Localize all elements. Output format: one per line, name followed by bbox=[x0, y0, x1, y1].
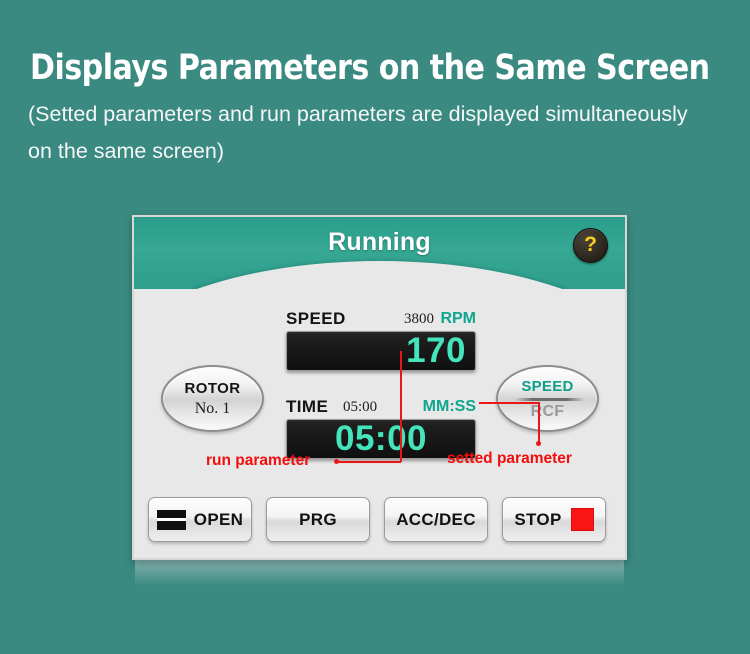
run-parameter-leader-dot bbox=[334, 459, 339, 464]
time-label: TIME bbox=[286, 397, 328, 417]
speed-rcf-bottom-label: RCF bbox=[498, 403, 597, 421]
setted-parameter-leader-horizontal bbox=[479, 402, 540, 404]
command-button-row: OPEN PRG ACC/DEC STOP bbox=[134, 497, 625, 547]
run-parameter-annotation: run parameter bbox=[206, 452, 310, 470]
open-button[interactable]: OPEN bbox=[148, 497, 252, 542]
speed-run-value: 170 bbox=[406, 331, 466, 371]
rotor-button-number: No. 1 bbox=[163, 400, 262, 418]
speed-unit-label: RPM bbox=[440, 310, 476, 328]
prg-button-label: PRG bbox=[299, 510, 337, 530]
speed-rcf-divider bbox=[516, 398, 583, 401]
rotor-button-label: ROTOR bbox=[163, 380, 262, 397]
page-title: Displays Parameters on the Same Screen bbox=[30, 48, 632, 88]
time-set-value: 05:00 bbox=[343, 399, 377, 416]
setted-parameter-leader-dot bbox=[536, 441, 541, 446]
speed-rcf-toggle-button[interactable]: SPEED RCF bbox=[496, 365, 599, 432]
setted-parameter-annotation: setted parameter bbox=[447, 450, 572, 468]
run-parameter-leader-vertical bbox=[400, 351, 402, 462]
acc-dec-button[interactable]: ACC/DEC bbox=[384, 497, 488, 542]
open-button-label: OPEN bbox=[194, 510, 243, 530]
help-icon[interactable]: ? bbox=[573, 228, 608, 263]
acc-dec-button-label: ACC/DEC bbox=[396, 510, 476, 530]
speed-rcf-top-label: SPEED bbox=[498, 378, 597, 395]
stop-button[interactable]: STOP bbox=[502, 497, 606, 542]
speed-set-value: 3800 bbox=[404, 311, 434, 328]
rotor-button[interactable]: ROTOR No. 1 bbox=[161, 365, 264, 432]
stop-button-label: STOP bbox=[514, 510, 561, 530]
setted-parameter-leader-vertical bbox=[538, 402, 540, 444]
speed-label: SPEED bbox=[286, 309, 346, 329]
page-subtitle: (Setted parameters and run parameters ar… bbox=[28, 96, 688, 170]
status-title: Running bbox=[134, 228, 625, 257]
prg-button[interactable]: PRG bbox=[266, 497, 370, 542]
run-parameter-leader-horizontal bbox=[337, 461, 401, 463]
lid-open-icon bbox=[157, 510, 186, 530]
centrifuge-control-panel: Running ? ROTOR No. 1 SPEED RCF SPEED 38… bbox=[132, 215, 627, 560]
time-format-label: MM:SS bbox=[423, 398, 476, 416]
panel-header: Running ? bbox=[134, 217, 625, 289]
header-curve-divider bbox=[134, 261, 625, 289]
panel-body: ROTOR No. 1 SPEED RCF SPEED 3800 RPM 170… bbox=[134, 289, 625, 560]
panel-reflection bbox=[135, 560, 624, 586]
stop-square-icon bbox=[571, 508, 594, 531]
speed-lcd-display[interactable]: 170 bbox=[286, 331, 476, 371]
